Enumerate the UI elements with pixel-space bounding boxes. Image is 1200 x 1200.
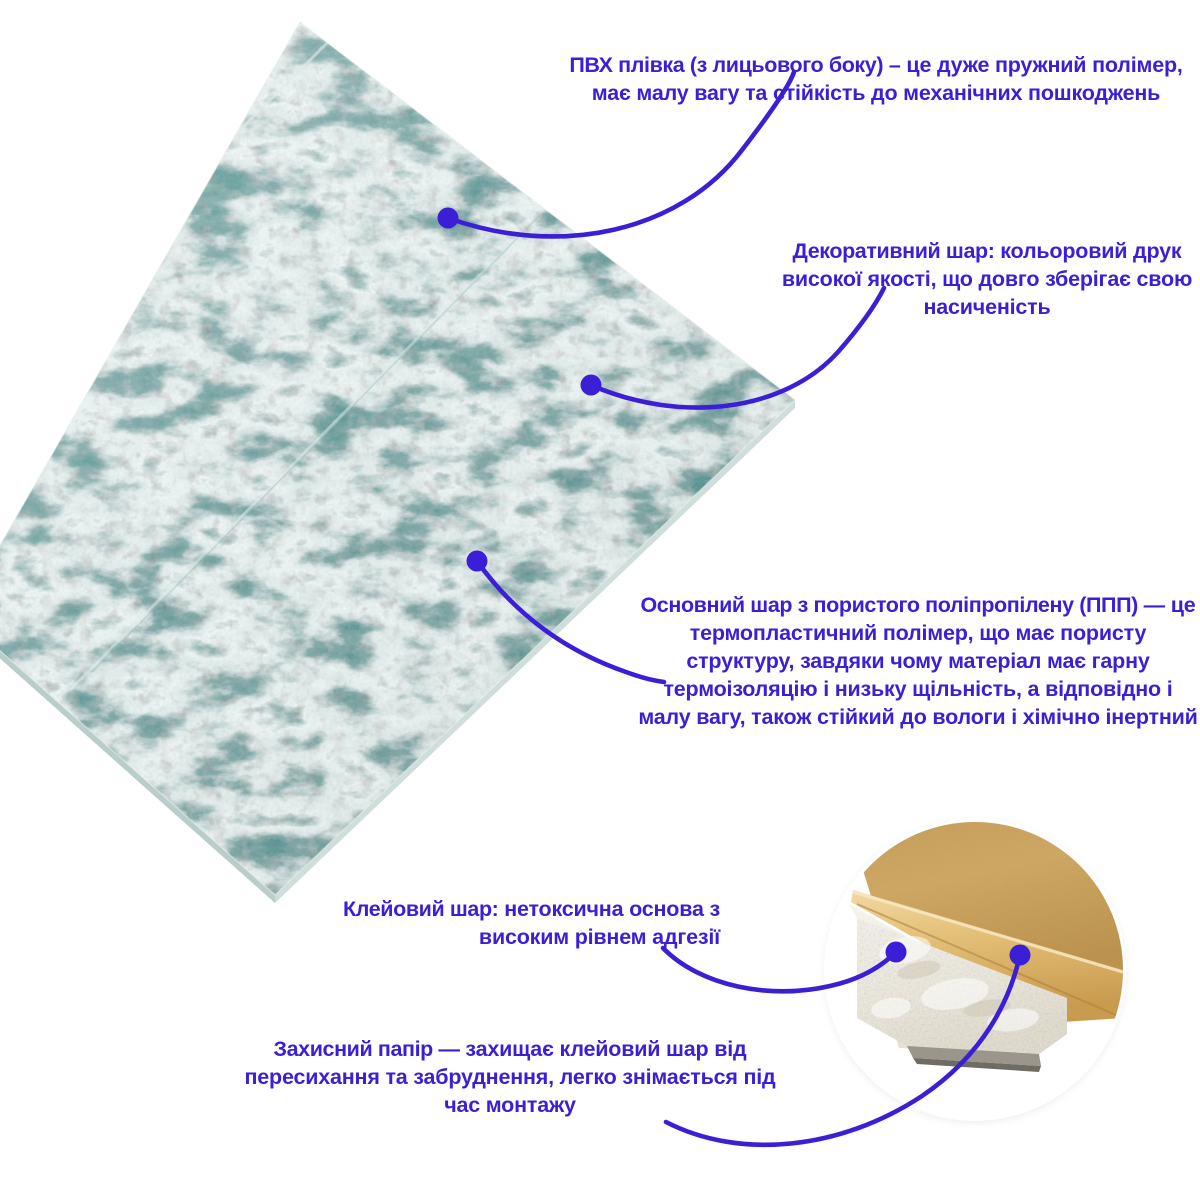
connector-adhesive-layer [663, 948, 896, 991]
dot-pvc-film [438, 208, 459, 229]
callout-adhesive-layer: Клейовий шар: нетоксична основа з високи… [280, 896, 720, 952]
callout-decorative-layer-title: Декоративний шар: [793, 239, 995, 263]
marble-panel [0, 0, 840, 930]
infographic-canvas: ПВХ плівка (з лицьового боку) – це дуже … [0, 0, 1200, 1200]
callout-protective-paper-title: Захисний папір — [274, 1037, 460, 1061]
dot-protective-paper [1010, 945, 1031, 966]
callout-polypropylene-core: Основний шар з пористого поліпропілену (… [636, 592, 1200, 732]
callout-adhesive-layer-title: Клейовий шар: [343, 897, 498, 921]
dot-polypropylene-core [467, 551, 488, 572]
dot-decorative-layer [581, 375, 602, 396]
callout-protective-paper: Захисний папір — захищає клейовий шар ві… [230, 1036, 790, 1120]
dot-adhesive-layer [886, 942, 907, 963]
callout-decorative-layer: Декоративний шар: кольоровий друк високо… [774, 238, 1200, 322]
callout-polypropylene-core-title: Основний шар з пористого поліпропілену (… [640, 593, 1137, 617]
callout-adhesive-layer-body: нетоксична основа з високим рівнем адгез… [479, 897, 720, 949]
callout-pvc-film: ПВХ плівка (з лицьового боку) – це дуже … [552, 52, 1200, 108]
callout-pvc-film-title: ПВХ плівка (з лицьового боку) [569, 53, 883, 77]
